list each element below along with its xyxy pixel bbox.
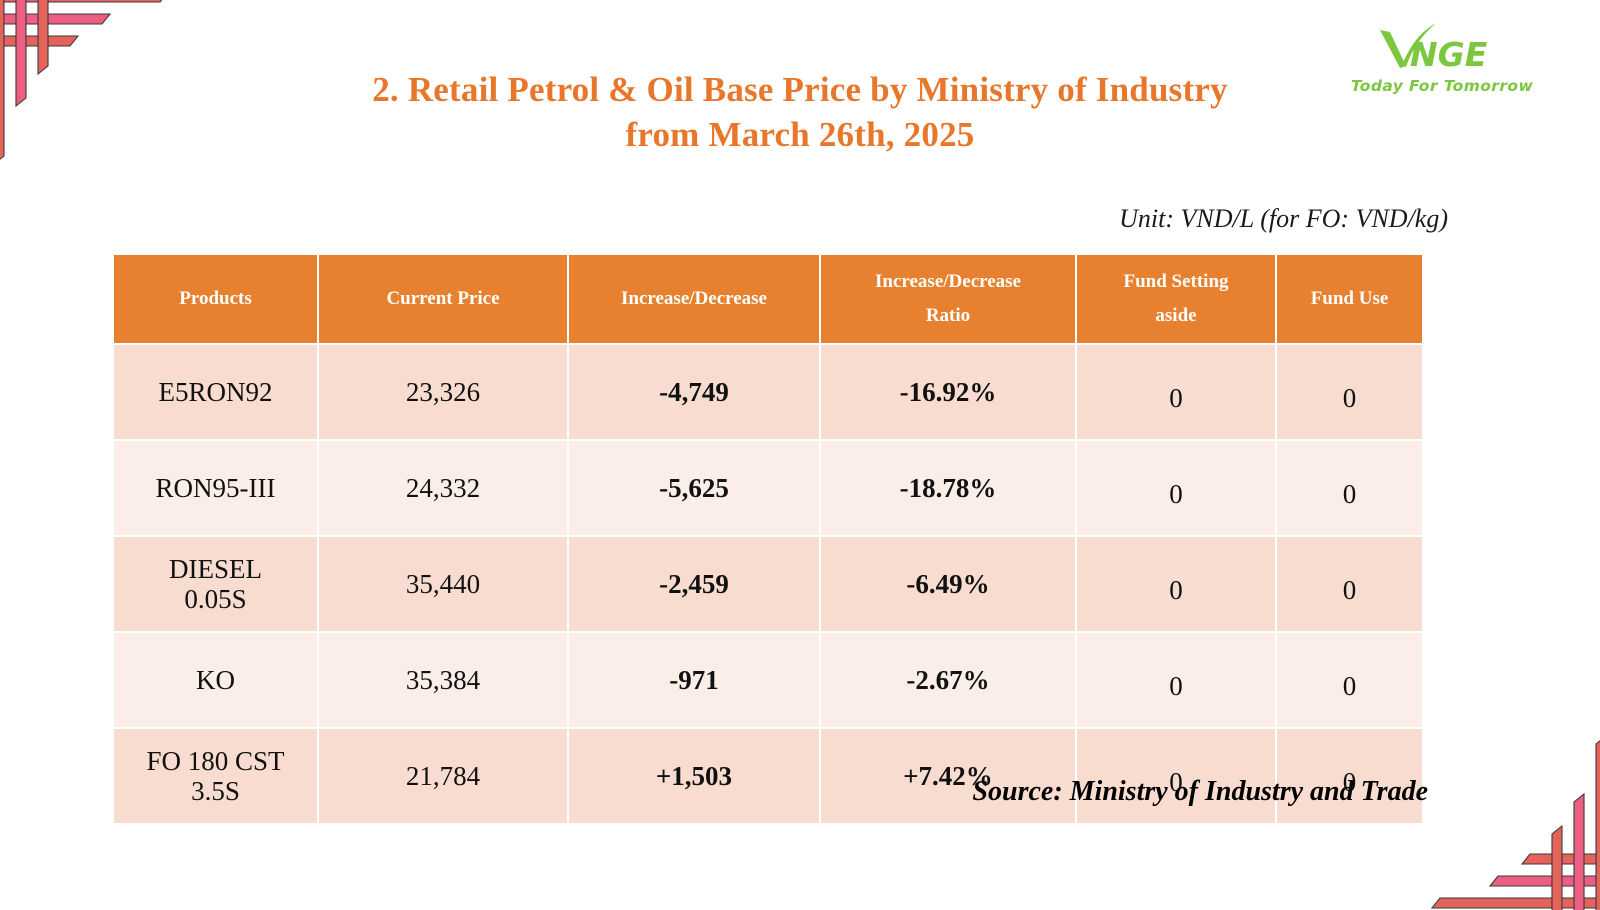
cell-increase-decrease: -4,749 [569, 345, 819, 439]
cell-fund-setting-aside: 0 [1077, 633, 1275, 727]
cell-fund-use: 0 [1277, 537, 1422, 631]
cell-increase-decrease-ratio: -18.78% [821, 441, 1075, 535]
cell-product-line2: 3.5S [114, 776, 317, 807]
cell-increase-decrease-ratio: -16.92% [821, 345, 1075, 439]
page-title-line1: 2. Retail Petrol & Oil Base Price by Min… [0, 66, 1600, 113]
column-header-products: Products [114, 255, 317, 343]
unit-note: Unit: VND/L (for FO: VND/kg) [1119, 204, 1448, 234]
column-header-ratio-line1: Increase/Decrease [825, 265, 1071, 299]
cell-increase-decrease-ratio: -2.67% [821, 633, 1075, 727]
table-header-row: Products Current Price Increase/Decrease… [114, 255, 1422, 343]
cell-product-line2: 0.05S [114, 584, 317, 615]
cell-current-price: 23,326 [319, 345, 567, 439]
cell-product: KO [114, 633, 317, 727]
cell-increase-decrease: +1,503 [569, 729, 819, 823]
cell-increase-decrease: -2,459 [569, 537, 819, 631]
column-header-ratio-line2: Ratio [825, 299, 1071, 333]
cell-product: DIESEL 0.05S [114, 537, 317, 631]
column-header-fund-use: Fund Use [1277, 255, 1422, 343]
cell-product-line1: RON95-III [114, 473, 317, 504]
cell-fund-use: 0 [1277, 633, 1422, 727]
cell-product-line1: KO [114, 665, 317, 696]
cell-product-line1: E5RON92 [114, 377, 317, 408]
cell-product: FO 180 CST 3.5S [114, 729, 317, 823]
cell-increase-decrease: -5,625 [569, 441, 819, 535]
cell-fund-setting-aside: 0 [1077, 441, 1275, 535]
column-header-fund-line2: aside [1081, 299, 1271, 333]
cell-product-line1: FO 180 CST [114, 746, 317, 777]
column-header-fund-setting-aside: Fund Setting aside [1077, 255, 1275, 343]
page-title-line2: from March 26th, 2025 [0, 111, 1600, 158]
table-row: E5RON92 23,326 -4,749 -16.92% 0 0 [114, 345, 1422, 439]
cell-current-price: 35,440 [319, 537, 567, 631]
cell-product-line1: DIESEL [114, 554, 317, 585]
source-note: Source: Ministry of Industry and Trade [972, 776, 1428, 808]
table-row: RON95-III 24,332 -5,625 -18.78% 0 0 [114, 441, 1422, 535]
cell-fund-setting-aside: 0 [1077, 345, 1275, 439]
column-header-increase-decrease: Increase/Decrease [569, 255, 819, 343]
column-header-fund-line1: Fund Setting [1081, 265, 1271, 299]
cell-current-price: 24,332 [319, 441, 567, 535]
cell-fund-use: 0 [1277, 441, 1422, 535]
table-row: DIESEL 0.05S 35,440 -2,459 -6.49% 0 0 [114, 537, 1422, 631]
cell-product: RON95-III [114, 441, 317, 535]
column-header-current-price: Current Price [319, 255, 567, 343]
petrol-price-table: Products Current Price Increase/Decrease… [112, 253, 1424, 825]
cell-fund-use: 0 [1277, 345, 1422, 439]
cell-current-price: 35,384 [319, 633, 567, 727]
cell-increase-decrease: -971 [569, 633, 819, 727]
page-title: 2. Retail Petrol & Oil Base Price by Min… [0, 66, 1600, 159]
corner-ornament-bottom-right [1418, 720, 1600, 910]
column-header-increase-decrease-ratio: Increase/Decrease Ratio [821, 255, 1075, 343]
cell-product: E5RON92 [114, 345, 317, 439]
cell-current-price: 21,784 [319, 729, 567, 823]
cell-increase-decrease-ratio: -6.49% [821, 537, 1075, 631]
table-row: KO 35,384 -971 -2.67% 0 0 [114, 633, 1422, 727]
cell-fund-setting-aside: 0 [1077, 537, 1275, 631]
